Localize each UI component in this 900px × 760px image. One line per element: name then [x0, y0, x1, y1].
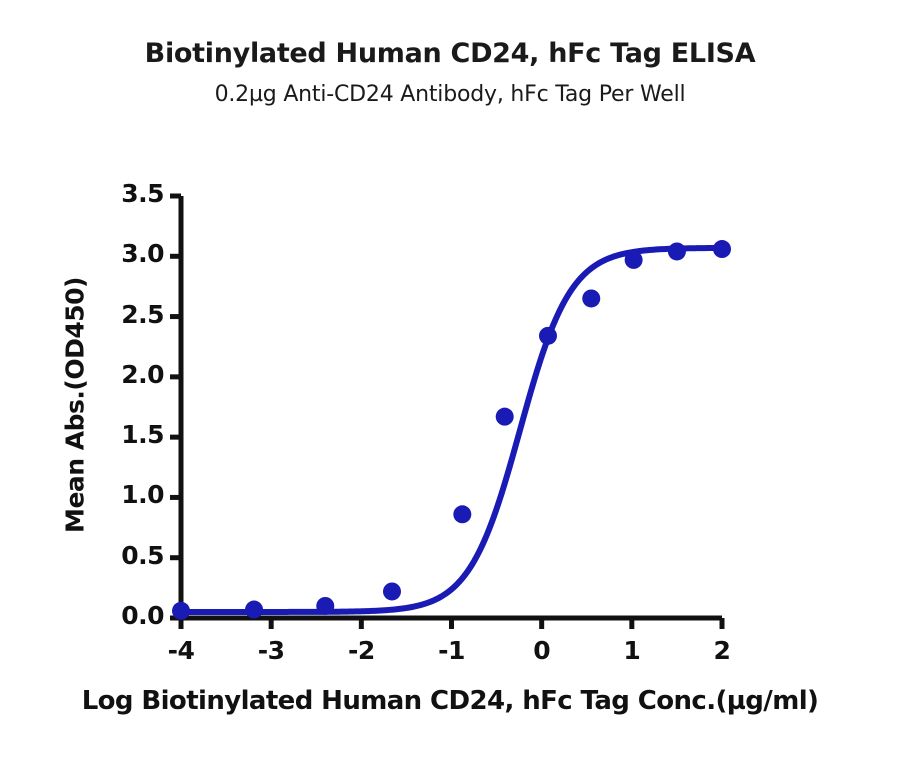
y-tick-label: 2.0	[92, 360, 164, 389]
x-tick-label: -4	[151, 636, 211, 665]
y-tick-label: 3.5	[92, 179, 164, 208]
data-point	[245, 601, 263, 619]
data-point	[582, 289, 600, 307]
data-point	[496, 408, 514, 426]
chart-page: Biotinylated Human CD24, hFc Tag ELISA 0…	[0, 0, 900, 760]
data-point	[172, 602, 190, 620]
x-tick-label: -1	[422, 636, 482, 665]
y-tick-label: 0.5	[92, 541, 164, 570]
y-tick-label: 0.0	[92, 601, 164, 630]
x-tick-label: 1	[602, 636, 662, 665]
data-point	[713, 240, 731, 258]
data-point-group	[172, 240, 731, 620]
x-tick-label: 2	[692, 636, 752, 665]
data-point	[453, 505, 471, 523]
data-point	[383, 582, 401, 600]
sigmoid-fit-curve	[181, 248, 722, 612]
y-tick-label: 1.5	[92, 420, 164, 449]
data-point	[316, 597, 334, 615]
data-point	[625, 251, 643, 269]
x-tick-label: -2	[331, 636, 391, 665]
x-tick-label: 0	[512, 636, 572, 665]
data-point	[668, 242, 686, 260]
x-tick-label: -3	[241, 636, 301, 665]
data-point	[539, 327, 557, 345]
y-tick-label: 2.5	[92, 300, 164, 329]
y-tick-label: 3.0	[92, 239, 164, 268]
y-tick-label: 1.0	[92, 480, 164, 509]
